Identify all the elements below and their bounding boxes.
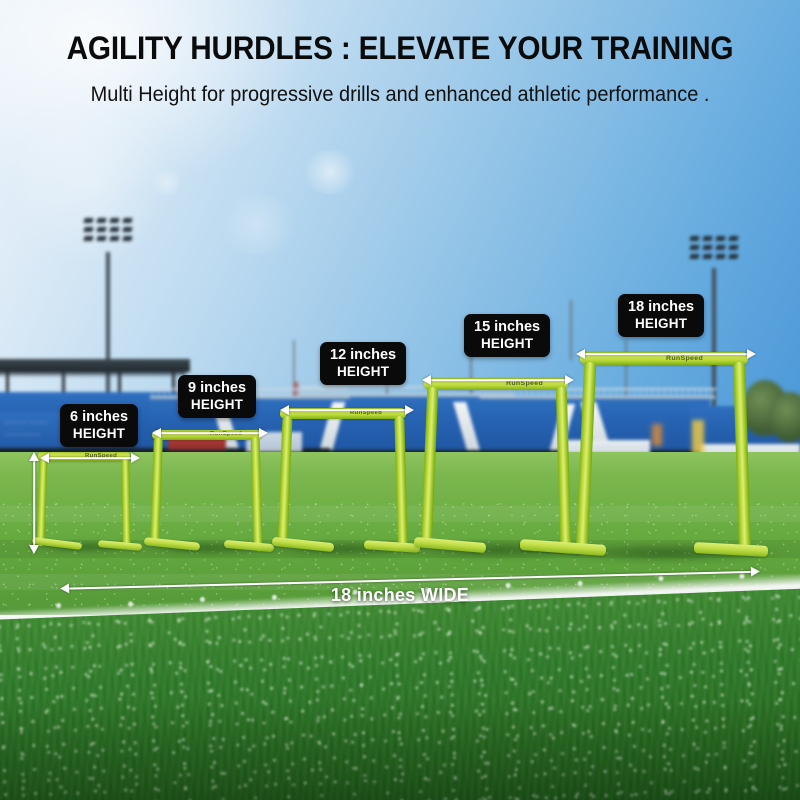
hurdle-leg-right <box>121 458 131 546</box>
sun-flare-1 <box>300 150 360 194</box>
callout-hurdle-18[interactable]: 18 inches HEIGHT <box>618 294 704 337</box>
hurdle-leg-left <box>150 437 163 545</box>
height-arrow-6-horizontal <box>40 452 140 464</box>
width-label: 18 inches WIDE <box>0 585 800 606</box>
infographic-canvas: ~~~~~ ~~~~ ~~~~~~~~ RunSpeed RunSpeed <box>0 0 800 800</box>
hurdle-15[interactable]: RunSpeed <box>412 378 580 558</box>
page-subtitle: Multi Height for progressive drills and … <box>77 80 723 110</box>
hurdle-leg-right <box>733 362 751 550</box>
hurdle-18[interactable]: RunSpeed <box>566 352 762 562</box>
callout-value: 9 inches <box>188 380 246 397</box>
callout-hurdle-9[interactable]: 9 inches HEIGHT <box>178 375 256 418</box>
callout-unit: HEIGHT <box>628 316 694 332</box>
hurdle-12[interactable]: RunSpeed <box>270 408 416 556</box>
callout-value: 18 inches <box>628 299 694 316</box>
page-title: AGILITY HURDLES : ELEVATE YOUR TRAINING <box>28 30 772 67</box>
sun-flare-3 <box>215 195 301 255</box>
hurdle-6[interactable]: RunSpeed <box>30 452 138 552</box>
callout-value: 12 inches <box>330 347 396 364</box>
height-arrow-6-vertical <box>27 452 41 554</box>
height-arrow-15 <box>422 374 574 386</box>
tree-2 <box>770 392 800 442</box>
hurdle-leg-left <box>421 387 439 547</box>
foreground-vignette <box>0 700 800 800</box>
far-pole-2 <box>570 300 572 360</box>
height-arrow-12 <box>280 404 414 416</box>
callout-value: 6 inches <box>70 409 128 426</box>
callout-unit: HEIGHT <box>474 336 540 352</box>
hurdle-leg-left <box>278 416 293 546</box>
callout-value: 15 inches <box>474 319 540 336</box>
callout-hurdle-6[interactable]: 6 inches HEIGHT <box>60 404 138 447</box>
hurdle-leg-right <box>394 416 407 546</box>
covered-stand-roof <box>0 359 190 372</box>
callout-unit: HEIGHT <box>330 364 396 380</box>
hurdle-leg-left <box>576 362 597 550</box>
height-arrow-18 <box>576 348 756 360</box>
callout-hurdle-15[interactable]: 15 inches HEIGHT <box>464 314 550 357</box>
hurdle-9[interactable]: RunSpeed <box>142 430 270 554</box>
hurdle-leg-right <box>251 437 263 545</box>
callout-unit: HEIGHT <box>188 397 246 413</box>
callout-unit: HEIGHT <box>70 426 128 442</box>
callout-hurdle-12[interactable]: 12 inches HEIGHT <box>320 342 406 385</box>
height-arrow-9 <box>152 427 268 439</box>
